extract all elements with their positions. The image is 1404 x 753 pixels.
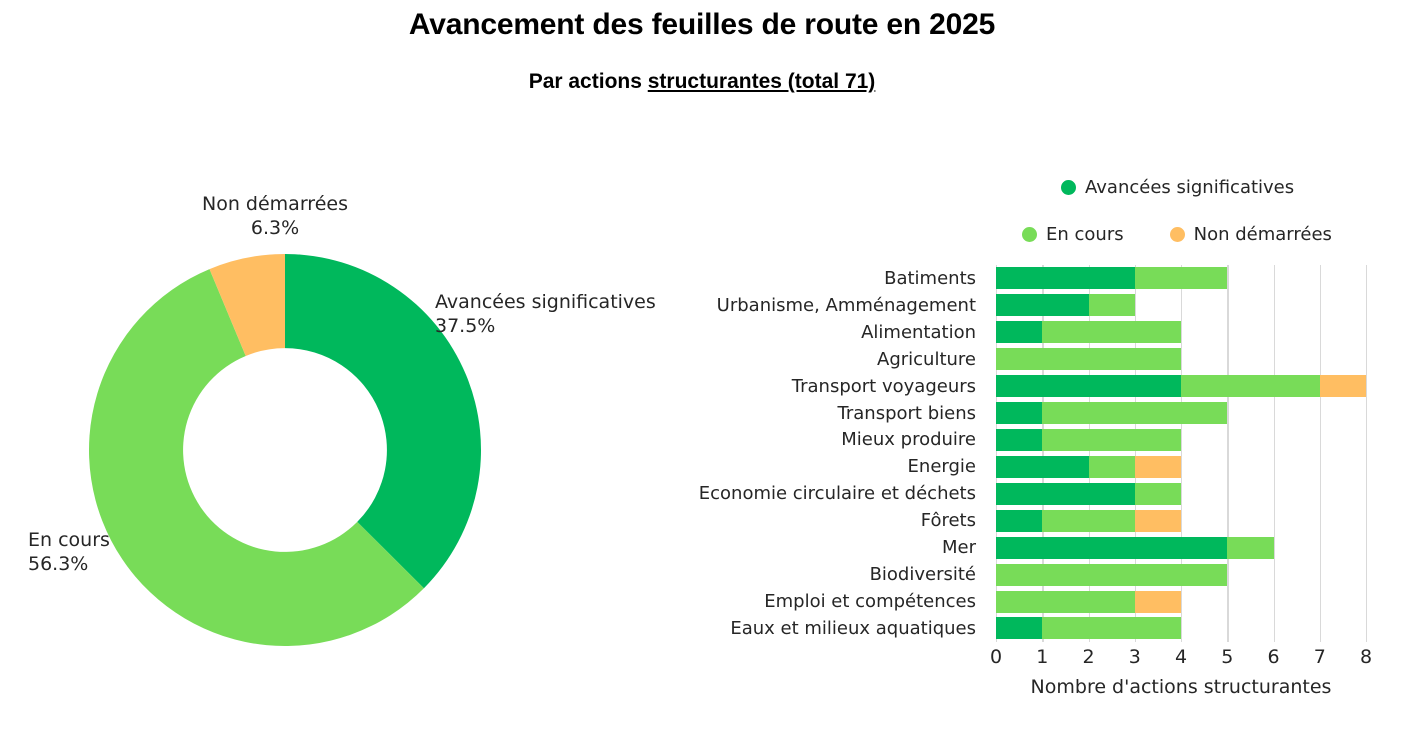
bar-segment[interactable] — [1089, 456, 1135, 478]
bar-segment[interactable] — [996, 402, 1042, 424]
bar-row[interactable] — [996, 588, 1366, 615]
bar-segment[interactable] — [996, 375, 1181, 397]
y-axis-label: Fôrets — [700, 507, 986, 534]
x-axis-tick: 2 — [1082, 646, 1094, 668]
stacked-bar — [996, 267, 1227, 289]
bar-row[interactable] — [996, 561, 1366, 588]
legend-item-avancees-significatives[interactable]: Avancées significatives — [1061, 177, 1294, 198]
bar-segment[interactable] — [996, 537, 1227, 559]
bar-row[interactable] — [996, 400, 1366, 427]
bar-segment[interactable] — [996, 267, 1135, 289]
bar-segment[interactable] — [996, 294, 1089, 316]
x-axis-title: Nombre d'actions structurantes — [996, 676, 1366, 698]
x-axis-tick: 1 — [1036, 646, 1048, 668]
legend-row-secondary: En cours Non démarrées — [1022, 224, 1332, 245]
bar-segment[interactable] — [1135, 591, 1181, 613]
stacked-bar — [996, 483, 1181, 505]
x-axis-ticks: 012345678 — [996, 646, 1366, 676]
x-axis-tick: 0 — [990, 646, 1002, 668]
bar-segment[interactable] — [996, 321, 1042, 343]
y-axis-category-labels: BatimentsUrbanisme, AmménagementAlimenta… — [700, 265, 986, 642]
bar-row[interactable] — [996, 453, 1366, 480]
stacked-bar — [996, 294, 1135, 316]
bar-segment[interactable] — [996, 456, 1089, 478]
y-axis-label: Transport voyageurs — [700, 373, 986, 400]
chart-page: Avancement des feuilles de route en 2025… — [0, 0, 1404, 753]
legend-item-en-cours[interactable]: En cours — [1022, 224, 1124, 245]
bar-segment[interactable] — [1227, 537, 1273, 559]
bar-segment[interactable] — [1089, 294, 1135, 316]
stacked-bar — [996, 348, 1181, 370]
bar-segment[interactable] — [1042, 510, 1135, 532]
legend-item-non-demarrees[interactable]: Non démarrées — [1170, 224, 1332, 245]
x-axis-tick: 7 — [1314, 646, 1326, 668]
bar-row[interactable] — [996, 373, 1366, 400]
y-axis-label: Urbanisme, Amménagement — [700, 292, 986, 319]
bar-row[interactable] — [996, 615, 1366, 642]
stacked-bar — [996, 510, 1181, 532]
y-axis-label: Batiments — [700, 265, 986, 292]
legend-label-non-demarrees: Non démarrées — [1194, 224, 1332, 245]
bar-segment[interactable] — [996, 617, 1042, 639]
x-axis-tick: 8 — [1360, 646, 1372, 668]
bar-segment[interactable] — [1042, 321, 1181, 343]
bar-segment[interactable] — [996, 564, 1227, 586]
bar-row[interactable] — [996, 534, 1366, 561]
stacked-bar — [996, 617, 1181, 639]
stacked-bar — [996, 564, 1227, 586]
y-axis-label: Eaux et milieux aquatiques — [700, 615, 986, 642]
stacked-bar — [996, 375, 1366, 397]
y-axis-label: Alimentation — [700, 319, 986, 346]
legend-dot-icon-en-cours — [1022, 227, 1037, 242]
bar-segment[interactable] — [1042, 429, 1181, 451]
bar-row[interactable] — [996, 427, 1366, 454]
stacked-bar — [996, 321, 1181, 343]
bar-segment[interactable] — [1320, 375, 1366, 397]
bar-segment[interactable] — [996, 348, 1181, 370]
y-axis-label: Biodiversité — [700, 561, 986, 588]
bar-row[interactable] — [996, 292, 1366, 319]
stacked-bar — [996, 429, 1181, 451]
bar-plot-area — [996, 265, 1366, 642]
stacked-bar — [996, 591, 1181, 613]
bar-chart: Avancées significatives En cours Non dém… — [0, 0, 1404, 753]
bar-segment[interactable] — [996, 483, 1135, 505]
legend-dot-icon-non-demarrees — [1170, 227, 1185, 242]
bar-rows — [996, 265, 1366, 642]
bar-row[interactable] — [996, 346, 1366, 373]
y-axis-label: Energie — [700, 453, 986, 480]
legend-label-en-cours: En cours — [1046, 224, 1124, 245]
legend-label-avancees: Avancées significatives — [1085, 177, 1294, 198]
gridline — [1366, 265, 1367, 642]
bar-segment[interactable] — [1135, 483, 1181, 505]
bar-row[interactable] — [996, 507, 1366, 534]
bar-row[interactable] — [996, 480, 1366, 507]
x-axis-tick: 5 — [1221, 646, 1233, 668]
bar-segment[interactable] — [1042, 402, 1227, 424]
y-axis-label: Mieux produire — [700, 427, 986, 454]
legend-row-primary: Avancées significatives — [1061, 177, 1294, 198]
stacked-bar — [996, 456, 1181, 478]
x-axis-tick: 3 — [1129, 646, 1141, 668]
bar-segment[interactable] — [1042, 617, 1181, 639]
bar-row[interactable] — [996, 319, 1366, 346]
x-axis-tick: 6 — [1267, 646, 1279, 668]
y-axis-label: Mer — [700, 534, 986, 561]
y-axis-label: Economie circulaire et déchets — [700, 480, 986, 507]
stacked-bar — [996, 402, 1227, 424]
bar-segment[interactable] — [1135, 267, 1228, 289]
bar-segment[interactable] — [996, 510, 1042, 532]
bar-segment[interactable] — [1135, 510, 1181, 532]
y-axis-label: Emploi et compétences — [700, 588, 986, 615]
legend-dot-icon-avancees — [1061, 180, 1076, 195]
stacked-bar — [996, 537, 1274, 559]
bar-row[interactable] — [996, 265, 1366, 292]
y-axis-label: Transport biens — [700, 400, 986, 427]
x-axis-tick: 4 — [1175, 646, 1187, 668]
bar-segment[interactable] — [1181, 375, 1320, 397]
bar-segment[interactable] — [996, 591, 1135, 613]
bar-segment[interactable] — [1135, 456, 1181, 478]
y-axis-label: Agriculture — [700, 346, 986, 373]
bar-segment[interactable] — [996, 429, 1042, 451]
